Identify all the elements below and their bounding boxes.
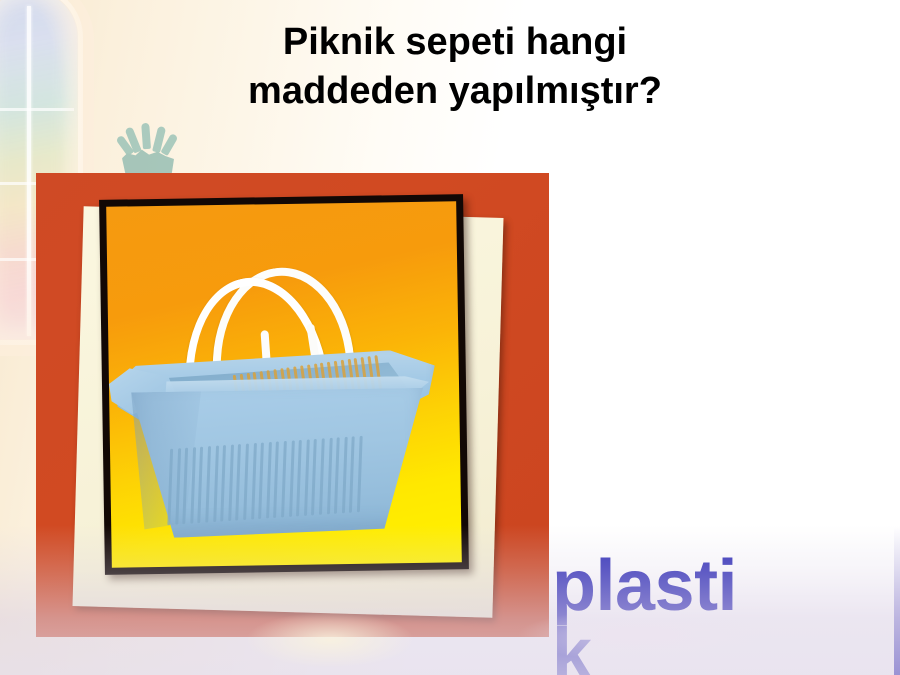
- basket-vent-slot: [334, 437, 340, 514]
- basket-vent-slot: [190, 447, 196, 524]
- basket-vent-slot: [251, 443, 257, 520]
- background-right-edge: [894, 0, 900, 675]
- basket-vent-slot: [182, 448, 188, 525]
- basket-vent-slot: [236, 444, 242, 521]
- basket-vent-slot: [205, 446, 211, 523]
- basket-vent-slot: [311, 439, 317, 516]
- basket-photo: [106, 201, 462, 567]
- page-title: Piknik sepeti hangi maddeden yapılmıştır…: [60, 18, 850, 115]
- slide-canvas: Piknik sepeti hangi maddeden yapılmıştır…: [0, 0, 900, 675]
- basket-vent-slot: [357, 436, 363, 513]
- basket-vent-slot: [220, 445, 226, 522]
- basket-vent-slot: [175, 448, 181, 525]
- basket-vent-slot: [273, 441, 279, 518]
- basket-vent-slot: [258, 442, 264, 519]
- basket-vent-slot: [319, 438, 325, 515]
- basket-vent-slot: [327, 438, 333, 515]
- basket-photo-frame: [99, 194, 469, 575]
- basket-vent-slot: [213, 446, 219, 523]
- basket-vent-slots: [167, 435, 369, 525]
- basket-vent-slot: [342, 437, 348, 514]
- basket-vent-slot: [266, 442, 272, 519]
- basket-vent-slot: [198, 447, 204, 524]
- plastic-basket-illustration: [113, 263, 462, 553]
- basket-vent-slot: [349, 436, 355, 513]
- basket-vent-slot: [228, 445, 234, 522]
- background-bottom-ghost-shapes: [0, 580, 900, 675]
- basket-vent-slot: [296, 440, 302, 517]
- basket-vent-slot: [243, 443, 249, 520]
- basket-vent-slot: [289, 440, 295, 517]
- basket-vent-slot: [304, 439, 310, 516]
- plant-leaf: [141, 123, 151, 149]
- basket-vent-slot: [281, 441, 287, 518]
